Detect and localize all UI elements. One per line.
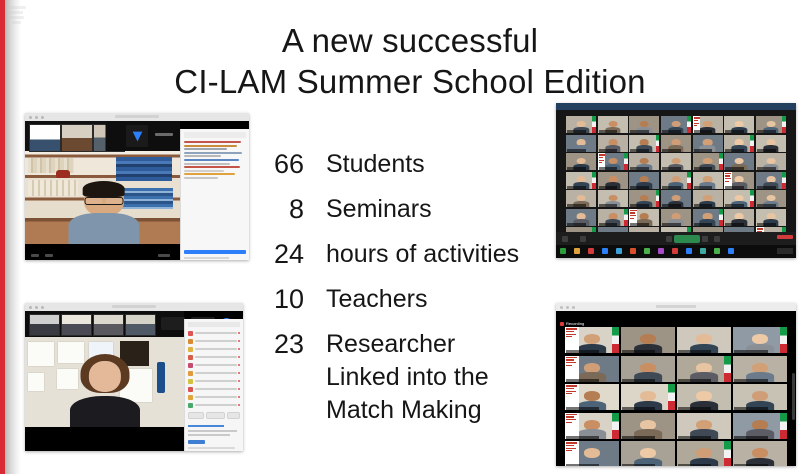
taskbar-app-icon[interactable] — [630, 248, 636, 254]
participant-head — [696, 334, 712, 344]
italian-flag-banner — [592, 116, 596, 133]
participant-video-tile[interactable] — [724, 116, 754, 133]
chat-message — [188, 434, 229, 436]
participant-name-label — [662, 204, 681, 207]
participant-video-tile[interactable] — [661, 172, 691, 189]
stat-label: Students — [326, 148, 425, 181]
participant-row[interactable] — [188, 346, 240, 352]
participant-head — [584, 363, 600, 373]
participant-name-label — [725, 186, 744, 189]
participant-head — [696, 391, 712, 401]
participant-video-tile[interactable] — [693, 135, 723, 152]
participant-video-tile[interactable] — [677, 413, 731, 439]
recording-indicator: Recording — [560, 321, 584, 326]
participant-name-label — [757, 186, 776, 189]
taskbar-app-icon[interactable] — [700, 248, 706, 254]
person-hair — [82, 181, 125, 197]
taskbar-app-icon[interactable] — [686, 248, 692, 254]
meeting-window-body — [25, 121, 249, 260]
italian-flag-banner — [687, 172, 691, 189]
participant-video-tile[interactable] — [621, 384, 675, 410]
meeting-controls-bar — [25, 244, 180, 260]
avatar — [188, 355, 193, 360]
record-button[interactable] — [702, 236, 708, 242]
slide-canvas: A new successful CI-LAM Summer School Ed… — [0, 0, 803, 474]
participant-head — [752, 391, 768, 401]
stat-label: Researcher Linked into the Match Making — [326, 328, 489, 427]
participant-video-tile[interactable] — [733, 441, 787, 466]
view-toggle-button[interactable] — [161, 317, 185, 330]
participant-name — [195, 372, 236, 374]
mute-icon — [238, 372, 240, 374]
italian-flag-banner — [719, 153, 723, 170]
chat-message — [184, 166, 240, 168]
participant-name-label — [734, 407, 767, 410]
mute-icon — [238, 380, 240, 382]
participant-video-tile[interactable] — [621, 327, 675, 353]
participant-name-label — [678, 350, 711, 353]
participant-video-tile[interactable] — [677, 356, 731, 382]
participant-video-tile[interactable] — [629, 172, 659, 189]
participant-video-tile[interactable] — [756, 116, 786, 133]
italian-flag-banner — [612, 327, 619, 353]
italian-flag-banner — [612, 413, 619, 439]
participant-name-label — [567, 130, 586, 133]
person-torso — [70, 396, 140, 427]
mute-icon — [238, 404, 240, 406]
participant-video-tile[interactable] — [565, 356, 619, 382]
participant-head — [752, 363, 768, 373]
maximize-icon[interactable] — [572, 306, 575, 309]
person-face — [88, 361, 120, 392]
chat-send-button[interactable] — [184, 250, 246, 254]
participant-name-label — [734, 350, 767, 353]
participant-video-tile[interactable] — [756, 209, 786, 226]
stat-label-line: Researcher — [326, 328, 489, 361]
more-button[interactable] — [227, 412, 240, 419]
leave-button[interactable] — [158, 254, 170, 257]
mute-button[interactable] — [562, 236, 568, 242]
participant-video-tile[interactable] — [724, 153, 754, 170]
participant-video-tile[interactable] — [598, 135, 628, 152]
participant-name-label — [725, 149, 744, 152]
participant-head — [752, 334, 768, 344]
participant-video-tile[interactable] — [629, 209, 659, 226]
italian-flag-banner — [687, 116, 691, 133]
participant-video-tile[interactable] — [566, 209, 596, 226]
participant-name-label — [567, 223, 586, 226]
participant-row[interactable] — [188, 354, 240, 360]
record-dot-icon — [560, 322, 564, 326]
wall-paper — [28, 373, 44, 391]
toolbar-menu-item[interactable] — [155, 133, 173, 136]
participant-video-tile[interactable] — [724, 209, 754, 226]
participant-video-tile[interactable] — [724, 172, 754, 189]
participant-name-label — [662, 186, 681, 189]
participant-video-tile[interactable] — [733, 384, 787, 410]
stat-label-line: hours of activities — [326, 238, 519, 271]
chat-panel-header — [184, 132, 246, 138]
participant-video-tile[interactable] — [693, 153, 723, 170]
participant-name — [195, 380, 236, 382]
participant-name-label — [630, 149, 649, 152]
participant-head — [696, 363, 712, 373]
participant-head — [584, 391, 600, 401]
participant-video-tile[interactable] — [733, 356, 787, 382]
participant-name — [195, 396, 236, 398]
participant-name-label — [725, 130, 744, 133]
participant-video-tile[interactable] — [565, 384, 619, 410]
participant-row[interactable] — [188, 370, 240, 376]
participant-video-tile[interactable] — [565, 441, 619, 466]
participant-video-tile[interactable] — [724, 135, 754, 152]
participant-thumbnail[interactable] — [61, 314, 92, 336]
avatar — [188, 339, 193, 344]
participant-video-tile[interactable] — [756, 190, 786, 207]
avatar — [188, 347, 193, 352]
participant-name-label — [678, 379, 711, 382]
mute-icon — [238, 396, 240, 398]
window-titlebar — [25, 113, 249, 121]
participant-name-label — [694, 149, 713, 152]
participant-name-label — [567, 149, 586, 152]
participant-thumbnail[interactable] — [93, 314, 124, 336]
slide-accent-stripe — [0, 0, 5, 474]
participant-name-label — [630, 167, 649, 170]
taskbar-app-icon[interactable] — [574, 248, 580, 254]
participant-video-tile[interactable] — [629, 153, 659, 170]
participant-video-tile[interactable] — [621, 441, 675, 466]
participant-name-label — [599, 223, 618, 226]
participant-name-label — [678, 436, 711, 439]
screenshot-zoom-speaker-woman — [25, 303, 243, 451]
participant-name-label — [567, 204, 586, 207]
participant-thumbnail[interactable] — [29, 314, 60, 336]
participant-name-label — [757, 130, 776, 133]
participant-row[interactable] — [188, 330, 240, 336]
avatar — [188, 387, 193, 392]
italian-flag-banner — [656, 135, 660, 152]
title-line-1: A new successful — [150, 20, 670, 61]
participant-name-label — [622, 407, 655, 410]
taskbar-app-icon[interactable] — [658, 248, 664, 254]
italian-flag-banner — [624, 209, 628, 226]
italian-flag-banner — [724, 441, 731, 466]
participant-video-tile[interactable] — [756, 135, 786, 152]
taskbar-app-icon[interactable] — [714, 248, 720, 254]
scrollbar[interactable] — [792, 373, 795, 420]
participant-thumbnail[interactable] — [125, 314, 156, 336]
mute-icon — [238, 340, 240, 342]
participant-name-label — [622, 379, 655, 382]
video-button[interactable] — [45, 254, 53, 257]
participant-head — [752, 448, 768, 458]
participant-video-tile[interactable] — [566, 190, 596, 207]
participant-name-label — [694, 167, 713, 170]
participant-video-tile[interactable] — [565, 327, 619, 353]
person-glasses — [84, 197, 123, 205]
person-torso — [68, 213, 139, 244]
participant-video-tile[interactable] — [629, 135, 659, 152]
participant-name-label — [622, 350, 655, 353]
participant-head — [640, 363, 656, 373]
avatar — [188, 371, 193, 376]
participant-name-label — [622, 436, 655, 439]
participant-video-tile[interactable] — [566, 135, 596, 152]
participant-video-tile[interactable] — [693, 172, 723, 189]
chat-panel[interactable] — [180, 129, 249, 260]
participants-button[interactable] — [666, 236, 672, 242]
participant-name-label — [678, 464, 711, 466]
stat-label-line: Teachers — [326, 283, 427, 316]
participant-video-tile[interactable] — [724, 190, 754, 207]
participant-name-label — [725, 167, 744, 170]
participant-name-label — [567, 167, 586, 170]
slide-overlay — [565, 441, 579, 466]
participant-name-label — [566, 379, 599, 382]
chat-send-button[interactable] — [188, 440, 205, 444]
italian-flag-banner — [624, 153, 628, 170]
mute-icon — [238, 388, 240, 390]
stat-number: 24 — [258, 238, 304, 271]
taskbar-app-icon[interactable] — [616, 248, 622, 254]
participant-row[interactable] — [188, 338, 240, 344]
taskbar-app-icon[interactable] — [728, 248, 734, 254]
participant-head — [584, 334, 600, 344]
chat-input[interactable] — [184, 257, 229, 259]
meeting-window-body — [25, 311, 243, 451]
window-titlebar — [25, 303, 243, 311]
participant-video-tile[interactable] — [661, 116, 691, 133]
avatar — [188, 331, 193, 336]
participant-row[interactable] — [188, 402, 240, 408]
meeting-controls-bar — [556, 232, 796, 245]
participant-video-tile[interactable] — [693, 209, 723, 226]
italian-flag-banner — [782, 172, 786, 189]
stat-label: hours of activities — [326, 238, 519, 271]
taskbar-app-icon[interactable] — [644, 248, 650, 254]
statistics-list: 66 Students 8 Seminars 24 hours of activ… — [258, 148, 558, 439]
window-titlebar — [556, 303, 796, 311]
chat-recipient-label — [188, 425, 224, 427]
participant-head — [584, 420, 600, 430]
participant-name — [195, 388, 236, 390]
blue-books-stack — [116, 157, 172, 181]
participants-panel-header — [188, 322, 240, 327]
participant-head — [640, 420, 656, 430]
italian-flag-banner — [719, 209, 723, 226]
participant-video-tile[interactable] — [598, 190, 628, 207]
participant-name — [195, 332, 236, 334]
chat-message — [184, 152, 243, 154]
participant-video-tile[interactable] — [566, 116, 596, 133]
participant-name-label — [566, 436, 599, 439]
stat-row: 8 Seminars — [258, 193, 558, 226]
participant-name-label — [630, 130, 649, 133]
participant-video-tile[interactable] — [677, 384, 731, 410]
participant-name — [195, 348, 236, 350]
chat-message — [184, 177, 218, 179]
stat-label-line: Match Making — [326, 394, 489, 427]
participant-head — [640, 334, 656, 344]
participant-video-tile[interactable] — [677, 327, 731, 353]
unmute-all-button[interactable] — [206, 412, 226, 419]
participant-row[interactable] — [188, 394, 240, 400]
italian-flag-banner — [780, 413, 787, 439]
participant-name-label — [662, 130, 681, 133]
participant-video-tile[interactable] — [733, 413, 787, 439]
speaker-person — [68, 183, 139, 244]
reactions-button[interactable] — [714, 236, 720, 242]
participant-video-tile[interactable] — [677, 441, 731, 466]
participant-name-label — [757, 223, 776, 226]
chat-message — [184, 141, 241, 143]
taskbar-app-icon[interactable] — [560, 248, 566, 254]
close-icon[interactable] — [560, 306, 563, 309]
avatar — [188, 395, 193, 400]
participant-name-label — [694, 130, 713, 133]
participant-video-tile[interactable] — [733, 327, 787, 353]
participant-name-label — [757, 167, 776, 170]
participant-name-label — [599, 130, 618, 133]
hanging-object — [157, 362, 165, 393]
participant-name-label — [622, 464, 655, 466]
window-titlebar — [556, 103, 796, 110]
participant-name-label — [734, 436, 767, 439]
chat-message — [184, 145, 238, 147]
stat-number: 66 — [258, 148, 304, 181]
participant-name-label — [599, 186, 618, 189]
participant-video-tile[interactable] — [598, 153, 628, 170]
page-title: A new successful CI-LAM Summer School Ed… — [150, 20, 670, 102]
participant-video-tile[interactable] — [621, 413, 675, 439]
screenshot-zoom-gallery-large — [556, 103, 796, 258]
window-title — [656, 305, 696, 308]
watermark-icon — [6, 4, 28, 30]
participant-row[interactable] — [188, 386, 240, 392]
stat-label-line: Linked into the — [326, 361, 489, 394]
mute-icon — [238, 356, 240, 358]
participant-name-label — [725, 223, 744, 226]
participant-video-tile[interactable] — [598, 209, 628, 226]
participant-name-label — [662, 149, 681, 152]
stat-label: Teachers — [326, 283, 427, 316]
mute-icon — [238, 364, 240, 366]
participant-row[interactable] — [188, 362, 240, 368]
avatar — [188, 379, 193, 384]
screenshot-voov-speaker-view — [25, 113, 249, 260]
chat-message — [184, 159, 239, 161]
stat-row: 10 Teachers — [258, 283, 558, 316]
chat-message — [184, 163, 230, 165]
italian-flag-banner — [750, 135, 754, 152]
participant-video-tile[interactable] — [598, 172, 628, 189]
italian-flag-banner — [780, 327, 787, 353]
stat-row: 66 Students — [258, 148, 558, 181]
participant-video-tile[interactable] — [565, 413, 619, 439]
participant-video-tile[interactable] — [661, 135, 691, 152]
participant-name-label — [734, 464, 767, 466]
participant-video-tile[interactable] — [621, 356, 675, 382]
stat-row: 23 Researcher Linked into the Match Maki… — [258, 328, 558, 427]
participant-video-tile[interactable] — [661, 190, 691, 207]
participant-video-tile[interactable] — [629, 190, 659, 207]
participant-name-label — [566, 464, 599, 466]
chat-message — [184, 173, 235, 175]
participant-name-label — [599, 149, 618, 152]
video-button[interactable] — [580, 236, 586, 242]
participant-name-label — [678, 407, 711, 410]
participant-name-label — [725, 204, 744, 207]
participant-row[interactable] — [188, 378, 240, 384]
italian-flag-banner — [592, 172, 596, 189]
chat-input[interactable] — [188, 447, 235, 449]
stat-row: 24 hours of activities — [258, 238, 558, 271]
participant-video-tile[interactable] — [693, 116, 723, 133]
stat-number: 23 — [258, 328, 304, 361]
avatar — [188, 363, 193, 368]
gallery-view: Recording — [556, 311, 796, 466]
chat-message — [184, 148, 228, 150]
participant-name — [195, 356, 236, 358]
stat-label: Seminars — [326, 193, 432, 226]
participant-name-label — [599, 167, 618, 170]
participant-name — [195, 404, 236, 406]
participant-name-label — [566, 407, 599, 410]
italian-flag-banner — [656, 190, 660, 207]
participant-name — [195, 340, 236, 342]
participant-video-tile[interactable] — [756, 172, 786, 189]
participant-name-label — [599, 204, 618, 207]
taskbar-app-icon[interactable] — [602, 248, 608, 254]
participant-head — [752, 420, 768, 430]
participant-video-tile[interactable] — [598, 116, 628, 133]
participant-video-tile[interactable] — [661, 209, 691, 226]
thumbnail-strip — [25, 311, 184, 337]
participant-video-tile[interactable] — [566, 153, 596, 170]
chat-message — [184, 170, 224, 172]
speaker-person — [70, 357, 140, 427]
participant-name-label — [694, 186, 713, 189]
participant-name-label — [734, 379, 767, 382]
wall-paper — [28, 342, 53, 365]
minimize-icon[interactable] — [566, 306, 569, 309]
taskbar-app-icon[interactable] — [672, 248, 678, 254]
participant-video-tile[interactable] — [629, 116, 659, 133]
participant-video-tile[interactable] — [693, 190, 723, 207]
mute-button[interactable] — [31, 254, 39, 257]
participant-video-tile[interactable] — [661, 153, 691, 170]
participants-panel[interactable] — [184, 319, 243, 451]
share-screen-button[interactable] — [674, 235, 700, 243]
mute-all-button[interactable] — [188, 412, 204, 419]
italian-flag-banner — [782, 116, 786, 133]
participant-video-tile[interactable] — [756, 153, 786, 170]
participant-name-label — [694, 223, 713, 226]
stat-number: 8 — [258, 193, 304, 226]
meeting-toolbar — [25, 121, 180, 151]
participant-name — [195, 364, 236, 366]
mute-icon — [238, 348, 240, 350]
participant-name-label — [630, 186, 649, 189]
participant-name-label — [757, 149, 776, 152]
participant-head — [696, 420, 712, 430]
participant-video-tile[interactable] — [566, 172, 596, 189]
leave-button[interactable] — [777, 235, 793, 239]
speaker-video — [25, 337, 184, 427]
taskbar-app-icon[interactable] — [588, 248, 594, 254]
participant-name-label — [566, 350, 599, 353]
